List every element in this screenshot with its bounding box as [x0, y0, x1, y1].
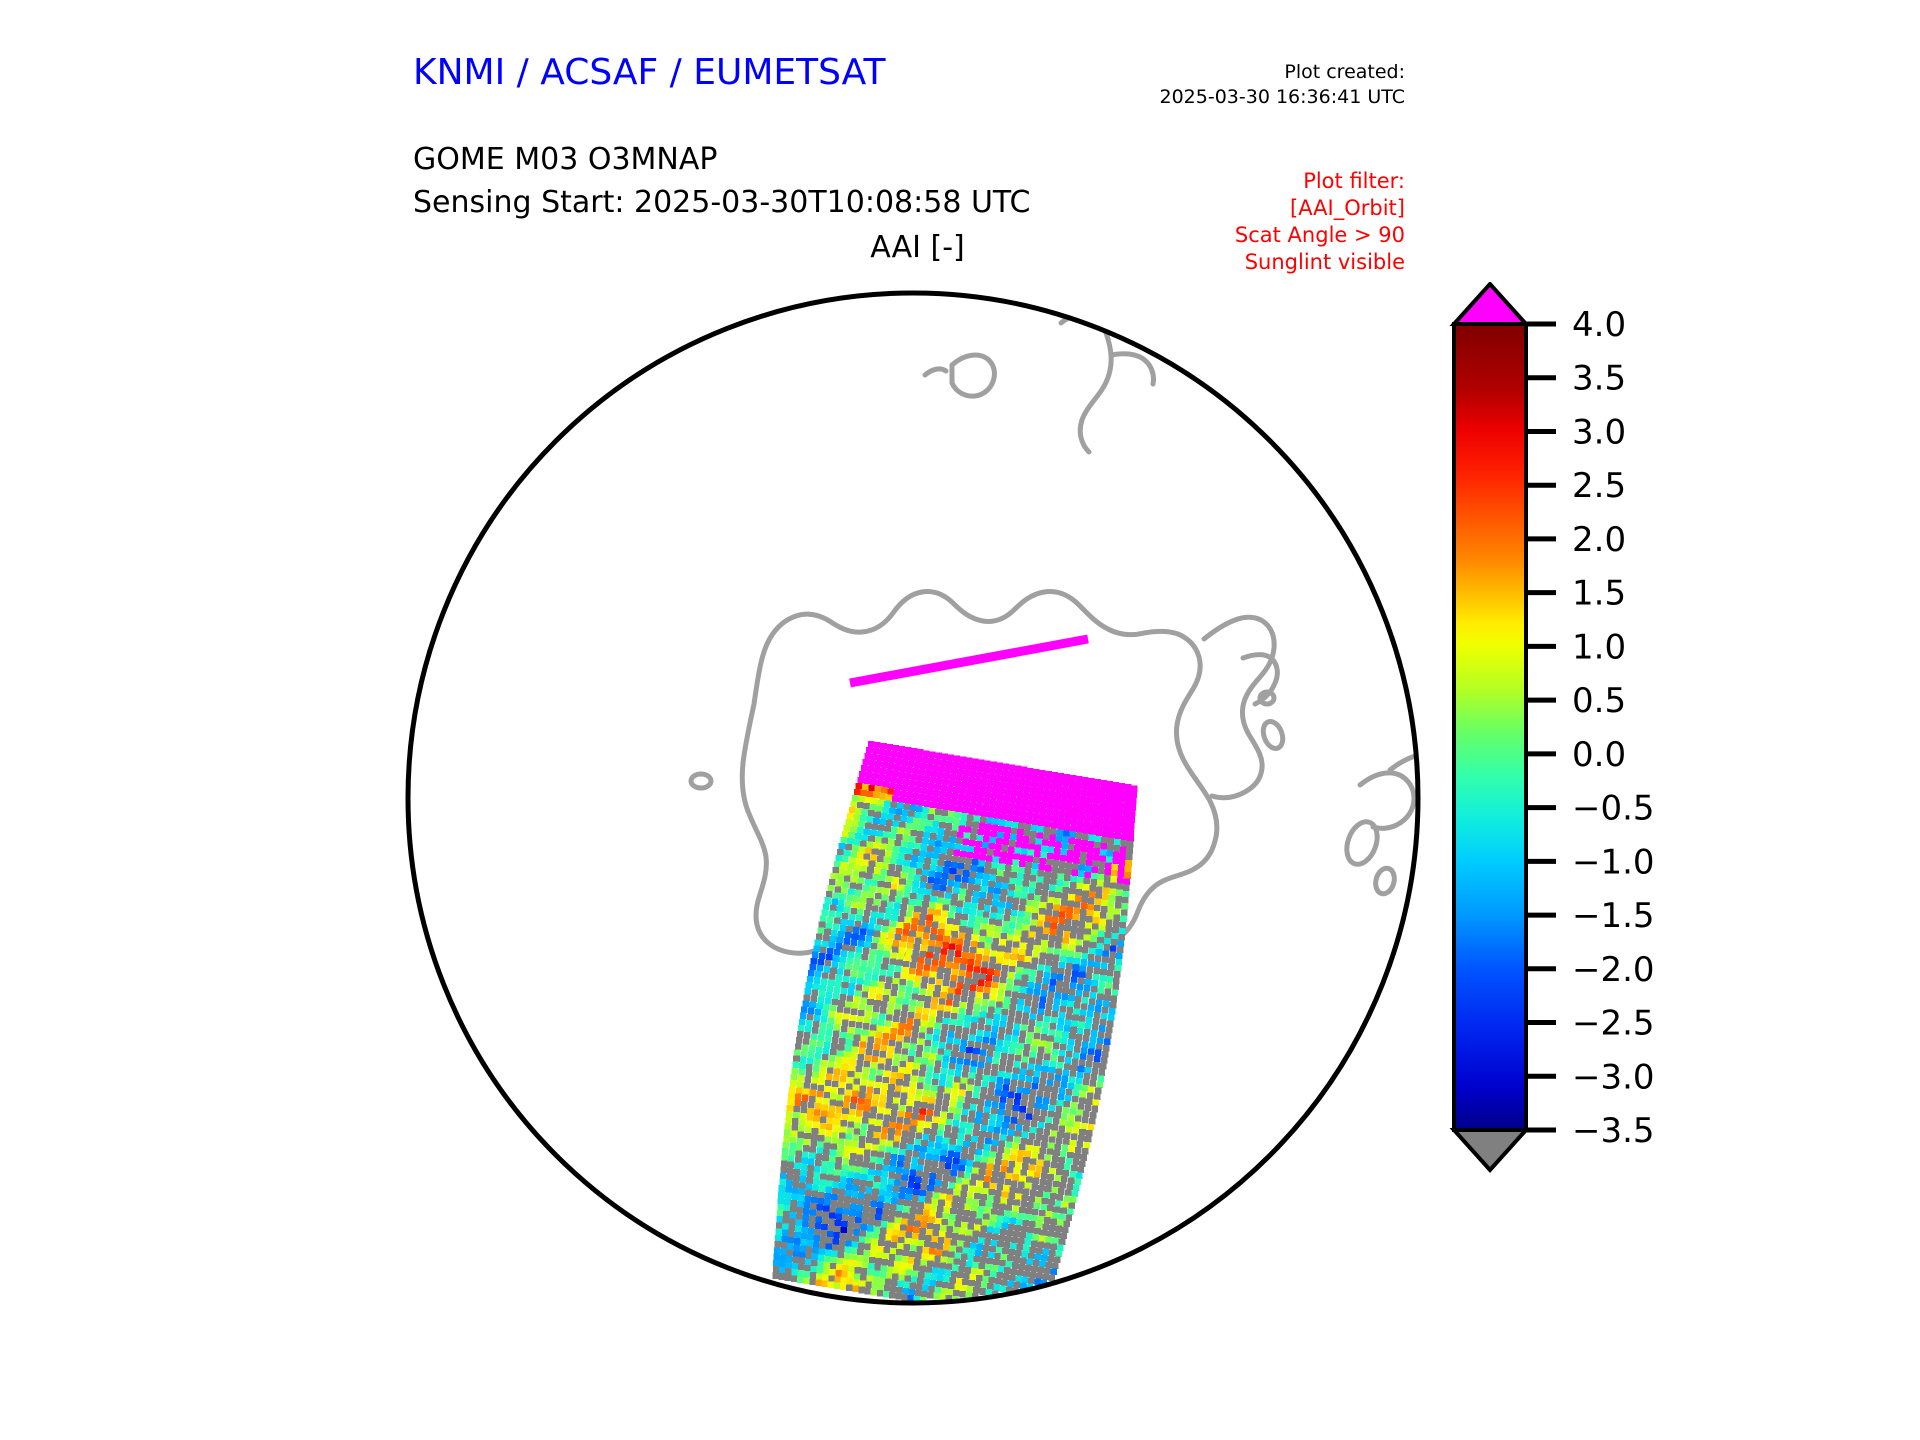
swath-pixel [1020, 987, 1027, 994]
swath-pixel [998, 989, 1005, 996]
swath-pixel [896, 1211, 903, 1218]
swath-pixel [1037, 782, 1044, 789]
swath-pixel [933, 991, 940, 998]
swath-pixel [1032, 775, 1039, 782]
swath-pixel [929, 1135, 936, 1142]
swath-pixel [1063, 1195, 1070, 1202]
swath-pixel [907, 1144, 914, 1151]
swath-pixel [934, 1104, 941, 1111]
swath-pixel [1126, 847, 1133, 854]
swath-pixel [978, 1238, 985, 1245]
swath-pixel [962, 1279, 969, 1286]
swath-pixel [1083, 1142, 1090, 1149]
swath-pixel [819, 1186, 826, 1193]
swath-pixel [844, 1096, 851, 1103]
swath-pixel [1081, 789, 1088, 796]
swath-pixel [791, 1275, 798, 1282]
swath-pixel [810, 1090, 817, 1097]
swath-pixel [915, 837, 922, 844]
swath-pixel [901, 1049, 908, 1056]
swath-pixel [1025, 1038, 1032, 1045]
swath-pixel [808, 1102, 815, 1109]
swath-pixel [1010, 796, 1017, 803]
swath-pixel [985, 792, 992, 799]
swath-pixel [813, 1021, 820, 1028]
swath-pixel [792, 1187, 799, 1194]
swath-pixel [1020, 1138, 1027, 1145]
swath-pixel [897, 1117, 904, 1124]
swath-pixel [878, 1101, 885, 1108]
swath-pixel [860, 1180, 867, 1187]
swath-pixel [1063, 830, 1070, 837]
swath-pixel [859, 771, 866, 778]
swath-pixel [806, 1114, 813, 1121]
swath-pixel [1079, 971, 1086, 978]
swath-pixel [946, 792, 953, 799]
swath-pixel [909, 779, 916, 786]
swath-pixel [1075, 1178, 1082, 1185]
swath-pixel [988, 1252, 995, 1259]
swath-pixel [873, 767, 880, 774]
swath-pixel [857, 909, 864, 916]
swath-pixel [995, 1278, 1002, 1285]
swath-pixel [1027, 1070, 1034, 1077]
swath-pixel [1085, 979, 1092, 986]
swath-pixel [819, 1242, 826, 1249]
swath-pixel [910, 1163, 917, 1170]
swath-pixel [909, 968, 916, 975]
swath-pixel [1034, 939, 1041, 946]
swath-pixel [1009, 1249, 1016, 1256]
swath-pixel [809, 1096, 816, 1103]
swath-pixel [861, 765, 868, 772]
swath-pixel [1090, 936, 1097, 943]
swath-pixel [1125, 866, 1132, 873]
swath-pixel [1118, 871, 1125, 878]
swath-pixel [987, 931, 994, 938]
swath-pixel [928, 908, 935, 915]
swath-pixel [859, 1186, 866, 1193]
swath-pixel [853, 1229, 860, 1236]
swath-pixel [1029, 837, 1036, 844]
swath-pixel [887, 971, 894, 978]
swath-pixel [1009, 1123, 1016, 1130]
swath-pixel [821, 1111, 828, 1118]
swath-pixel [1027, 988, 1034, 995]
swath-pixel [854, 814, 861, 821]
swath-pixel [954, 812, 961, 819]
swath-pixel [1006, 1173, 1013, 1180]
swath-pixel [1105, 1033, 1112, 1040]
swath-pixel [878, 982, 885, 989]
swath-pixel [839, 1183, 846, 1190]
swath-pixel [885, 750, 892, 757]
swath-pixel [1053, 955, 1060, 962]
swath-pixel [933, 1230, 940, 1237]
swath-pixel [801, 1101, 808, 1108]
swath-pixel [873, 1226, 880, 1233]
swath-pixel [949, 836, 956, 843]
swath-pixel [990, 1271, 997, 1278]
swath-pixel [976, 992, 983, 999]
swath-pixel [909, 754, 916, 761]
swath-pixel [998, 1209, 1005, 1216]
swath-pixel [971, 1236, 978, 1243]
swath-pixel [859, 872, 866, 879]
swath-pixel [932, 796, 939, 803]
swath-pixel [895, 966, 902, 973]
swath-pixel [852, 820, 859, 827]
swath-pixel [870, 987, 877, 994]
swath-pixel [1092, 867, 1099, 874]
swath-pixel [1030, 1271, 1037, 1278]
swath-pixel [989, 1000, 996, 1007]
swath-pixel [978, 942, 985, 949]
swath-pixel [935, 840, 942, 847]
swath-pixel [1031, 1045, 1038, 1052]
swath-pixel [842, 944, 849, 951]
swath-pixel [812, 1071, 819, 1078]
swath-pixel [1048, 941, 1055, 948]
swath-pixel [1016, 1187, 1023, 1194]
swath-pixel [1113, 921, 1120, 928]
swath-pixel [1017, 1043, 1024, 1050]
swath-pixel [900, 1099, 907, 1106]
swath-pixel [1043, 928, 1050, 935]
swath-pixel [1037, 1090, 1044, 1097]
swath-pixel [954, 957, 961, 964]
swath-pixel [815, 1103, 822, 1110]
swath-pixel [1056, 1137, 1063, 1144]
swath-pixel [930, 1129, 937, 1136]
swath-pixel [826, 923, 833, 930]
swath-pixel [924, 1040, 931, 1047]
swath-pixel [1027, 944, 1034, 951]
swath-pixel [1000, 977, 1007, 984]
swath-pixel [972, 1130, 979, 1137]
colorbar-tick-label: −2.5 [1572, 1004, 1655, 1044]
swath-pixel [1031, 825, 1038, 832]
swath-pixel [1110, 807, 1117, 814]
swath-pixel [798, 1264, 805, 1271]
swath-pixel [968, 1035, 975, 1042]
swath-pixel [1003, 833, 1010, 840]
swath-pixel [1045, 1211, 1052, 1218]
swath-pixel [969, 1217, 976, 1224]
swath-pixel [921, 1102, 928, 1109]
swath-pixel [1030, 1127, 1037, 1134]
swath-pixel [993, 976, 1000, 983]
colorbar-tick-label: 2.0 [1572, 520, 1626, 560]
swath-pixel [807, 1108, 814, 1115]
swath-pixel [901, 1256, 908, 1263]
swath-pixel [825, 1130, 832, 1137]
swath-pixel [1054, 993, 1061, 1000]
swath-pixel [886, 845, 893, 852]
swath-pixel [1036, 832, 1043, 839]
swath-pixel [1067, 907, 1074, 914]
swath-pixel [897, 991, 904, 998]
swath-pixel [1057, 1131, 1064, 1138]
swath-pixel [1065, 919, 1072, 926]
swath-pixel [927, 1028, 934, 1035]
swath-pixel [1024, 874, 1031, 881]
swath-pixel [1105, 932, 1112, 939]
swath-pixel [867, 1269, 874, 1276]
swath-pixel [1098, 1031, 1105, 1038]
swath-pixel [982, 955, 989, 962]
swath-pixel [1049, 935, 1056, 942]
swath-pixel [986, 1019, 993, 1026]
swath-pixel [897, 1281, 904, 1288]
swath-pixel [945, 1043, 952, 1050]
swath-pixel [973, 1086, 980, 1093]
swath-pixel [1042, 1135, 1049, 1142]
swath-pixel [816, 1003, 823, 1010]
swath-pixel [978, 791, 985, 798]
swath-pixel [813, 1172, 820, 1179]
swath-pixel [984, 1176, 991, 1183]
swath-pixel [1086, 853, 1093, 860]
swath-pixel [1012, 860, 1019, 867]
swath-pixel [1001, 1223, 1008, 1230]
swath-pixel [854, 839, 861, 846]
swath-pixel [888, 1260, 895, 1267]
swath-pixel [996, 838, 1003, 845]
swath-pixel [932, 853, 939, 860]
swath-pixel [821, 1224, 828, 1231]
swath-pixel [1115, 959, 1122, 966]
swath-pixel [997, 1077, 1004, 1084]
swath-pixel [923, 1090, 930, 1097]
swath-pixel [998, 1178, 1005, 1185]
swath-pixel [989, 875, 996, 882]
swath-pixel [897, 752, 904, 759]
swath-pixel [922, 870, 929, 877]
swath-pixel [811, 1033, 818, 1040]
swath-pixel [782, 1224, 789, 1231]
swath-pixel [1068, 1077, 1075, 1084]
swath-pixel [966, 1160, 973, 1167]
swath-pixel [942, 942, 949, 949]
swath-pixel [1119, 783, 1126, 790]
swath-pixel [859, 1281, 866, 1288]
swath-pixel [1008, 972, 1015, 979]
swath-pixel [1051, 1011, 1058, 1018]
swath-pixel [1109, 889, 1116, 896]
swath-pixel [1114, 908, 1121, 915]
swath-pixel [934, 947, 941, 954]
plot-created-timestamp: 2025-03-30 16:36:41 UTC [1160, 85, 1406, 110]
swath-pixel [1116, 814, 1123, 821]
swath-pixel [967, 884, 974, 891]
swath-pixel [854, 1122, 861, 1129]
swath-pixel [1093, 1018, 1100, 1025]
swath-pixel [785, 1193, 792, 1200]
swath-pixel [1059, 1157, 1066, 1164]
swath-pixel [937, 772, 944, 779]
swath-pixel [947, 817, 954, 824]
swath-pixel [906, 1232, 913, 1239]
swath-pixel [974, 815, 981, 822]
swath-pixel [947, 1226, 954, 1233]
swath-pixel [958, 1134, 965, 1141]
swath-pixel [1101, 906, 1108, 913]
swath-pixel [936, 1174, 943, 1181]
swath-pixel [783, 1142, 790, 1149]
swath-pixel [985, 1100, 992, 1107]
swath-pixel [915, 1013, 922, 1020]
swath-pixel [871, 943, 878, 950]
swath-pixel [935, 752, 942, 759]
swath-pixel [1064, 925, 1071, 932]
swath-pixel [894, 1135, 901, 1142]
swath-pixel [926, 990, 933, 997]
swath-pixel [958, 794, 965, 801]
swath-pixel [985, 1025, 992, 1032]
swath-pixel [1093, 911, 1100, 918]
swath-pixel [868, 1074, 875, 1081]
swath-pixel [1087, 904, 1094, 911]
swath-pixel [845, 1140, 852, 1147]
swath-pixel [1069, 838, 1076, 845]
swath-pixel [877, 1158, 884, 1165]
swath-pixel [1017, 1005, 1024, 1012]
swath-pixel [1089, 1042, 1096, 1049]
swath-pixel [851, 971, 858, 978]
swath-pixel [959, 1197, 966, 1204]
swath-pixel [1104, 995, 1111, 1002]
swath-pixel [921, 1140, 928, 1147]
swath-pixel [1023, 1126, 1030, 1133]
swath-pixel [1082, 947, 1089, 954]
swath-pixel [1012, 1206, 1019, 1213]
swath-pixel [928, 1141, 935, 1148]
colorbar-tick-label: −1.5 [1572, 896, 1655, 936]
swath-pixel [869, 1068, 876, 1075]
swath-pixel [863, 759, 870, 766]
swath-pixel [1057, 823, 1064, 830]
swath-pixel [961, 813, 968, 820]
swath-pixel [860, 1042, 867, 1049]
swath-pixel [820, 1022, 827, 1029]
swath-pixel [1117, 802, 1124, 809]
swath-pixel [1099, 855, 1106, 862]
swath-pixel [1044, 1161, 1051, 1168]
swath-pixel [855, 858, 862, 865]
swath-pixel [1005, 1028, 1012, 1035]
swath-pixel [931, 928, 938, 935]
swath-pixel [1059, 1213, 1066, 1220]
swath-pixel [1123, 803, 1130, 810]
swath-pixel [891, 1198, 898, 1205]
swath-pixel [930, 1167, 937, 1174]
swath-pixel [1066, 963, 1073, 970]
swath-pixel [884, 1109, 891, 1116]
swath-pixel [803, 1214, 810, 1221]
swath-pixel [853, 927, 860, 934]
swath-pixel [881, 932, 888, 939]
swath-pixel [952, 893, 959, 900]
swath-pixel [914, 1101, 921, 1108]
swath-pixel [791, 1074, 798, 1081]
swath-pixel [1028, 1101, 1035, 1108]
swath-pixel [785, 1274, 792, 1281]
swath-pixel [842, 1265, 849, 1272]
swath-pixel [920, 983, 927, 990]
swath-pixel [933, 1111, 940, 1118]
swath-pixel [906, 1150, 913, 1157]
swath-pixel [889, 958, 896, 965]
swath-pixel [970, 1211, 977, 1218]
swath-pixel [856, 1211, 863, 1218]
swath-pixel [1013, 986, 1020, 993]
swath-pixel [1074, 845, 1081, 852]
swath-pixel [846, 1184, 853, 1191]
swath-pixel [804, 1076, 811, 1083]
swath-pixel [795, 1150, 802, 1157]
swath-pixel [957, 800, 964, 807]
swath-pixel [1080, 1053, 1087, 1060]
swath-pixel [835, 1163, 842, 1170]
swath-pixel [987, 887, 994, 894]
swath-pixel [902, 1005, 909, 1012]
swath-pixel [826, 1030, 833, 1037]
swath-pixel [889, 1040, 896, 1047]
swath-pixel [788, 1237, 795, 1244]
swath-pixel [863, 885, 870, 892]
swath-pixel [887, 1046, 894, 1053]
swath-pixel [895, 758, 902, 765]
swath-pixel [996, 920, 1003, 927]
swath-pixel [1040, 1204, 1047, 1211]
swath-pixel [1090, 879, 1097, 886]
swath-pixel [1036, 1015, 1043, 1022]
swath-pixel [964, 940, 971, 947]
swath-pixel [1082, 834, 1089, 841]
swath-pixel [994, 970, 1001, 977]
swath-pixel [886, 1052, 893, 1059]
swath-pixel [967, 1122, 974, 1129]
plot-created-label: Plot created: [1160, 60, 1406, 85]
swath-pixel [853, 1179, 860, 1186]
swath-pixel [952, 1088, 959, 1095]
swath-pixel [952, 1007, 959, 1014]
swath-pixel [905, 854, 912, 861]
swath-pixel [840, 1227, 847, 1234]
swath-pixel [868, 1081, 875, 1088]
swath-pixel [1088, 954, 1095, 961]
swath-pixel [982, 1219, 989, 1226]
swath-pixel [1011, 910, 1018, 917]
swath-pixel [977, 948, 984, 955]
swath-pixel [944, 1093, 951, 1100]
swath-pixel [1067, 800, 1074, 807]
swath-pixel [816, 1147, 823, 1154]
swath-pixel [965, 1204, 972, 1211]
swath-pixel [1095, 830, 1102, 837]
swath-pixel [975, 841, 982, 848]
swath-pixel [926, 1191, 933, 1198]
swath-pixel [1005, 783, 1012, 790]
swath-pixel [983, 911, 990, 918]
swath-pixel [949, 805, 956, 812]
swath-pixel [1097, 993, 1104, 1000]
swath-pixel [806, 1020, 813, 1027]
swath-pixel [929, 871, 936, 878]
swath-pixel [1084, 928, 1091, 935]
swath-pixel [1066, 1051, 1073, 1058]
